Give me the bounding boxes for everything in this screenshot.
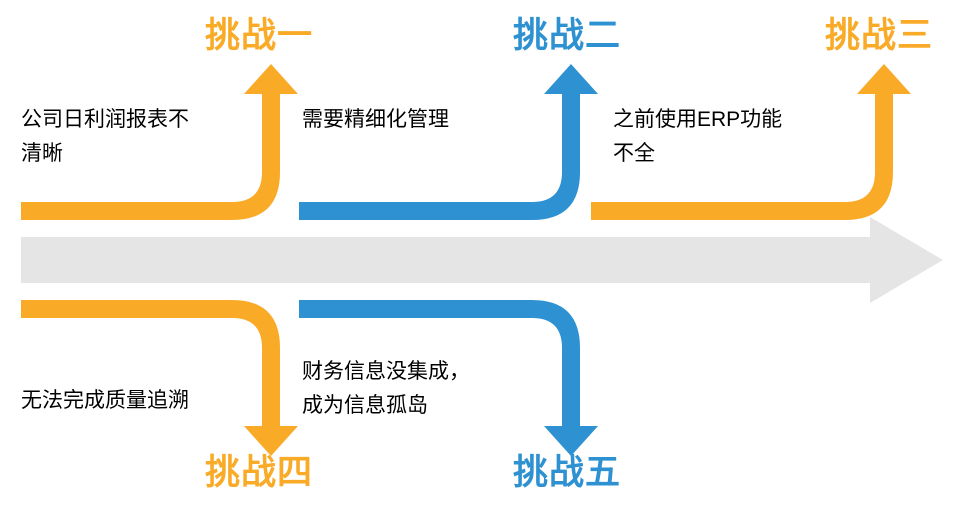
challenge-4-description-line-1: 无法完成质量追溯 — [21, 384, 189, 418]
challenge-5-description: 财务信息没集成， 成为信息孤岛 — [302, 355, 470, 423]
challenge-2-description: 需要精细化管理 — [302, 103, 449, 137]
arrow-challenge-4 — [21, 300, 298, 456]
challenge-4-title: 挑战四 — [205, 455, 313, 490]
diagram-canvas: 挑战一 挑战二 挑战三 公司日利润报表不 清晰 需要精细化管理 之前使用ERP功… — [0, 0, 959, 521]
challenge-3-title: 挑战三 — [825, 18, 933, 53]
challenge-5-description-line-2: 成为信息孤岛 — [302, 389, 470, 423]
challenge-1-description-line-2: 清晰 — [21, 137, 189, 171]
challenge-3-description-line-1: 之前使用ERP功能 — [613, 103, 782, 137]
timeline-arrow-gray — [21, 217, 943, 303]
challenge-5-title: 挑战五 — [513, 455, 621, 490]
challenge-3-description-line-2: 不全 — [613, 137, 782, 171]
challenge-1-description: 公司日利润报表不 清晰 — [21, 103, 189, 171]
challenge-1-description-line-1: 公司日利润报表不 — [21, 103, 189, 137]
challenge-2-description-line-1: 需要精细化管理 — [302, 103, 449, 137]
challenge-5-description-line-1: 财务信息没集成， — [302, 355, 470, 389]
challenge-1-title: 挑战一 — [205, 18, 313, 53]
challenge-4-description: 无法完成质量追溯 — [21, 384, 189, 418]
arrow-layer — [0, 0, 959, 521]
challenge-3-description: 之前使用ERP功能 不全 — [613, 103, 782, 171]
challenge-2-title: 挑战二 — [513, 18, 621, 53]
arrow-challenge-2 — [299, 64, 598, 220]
